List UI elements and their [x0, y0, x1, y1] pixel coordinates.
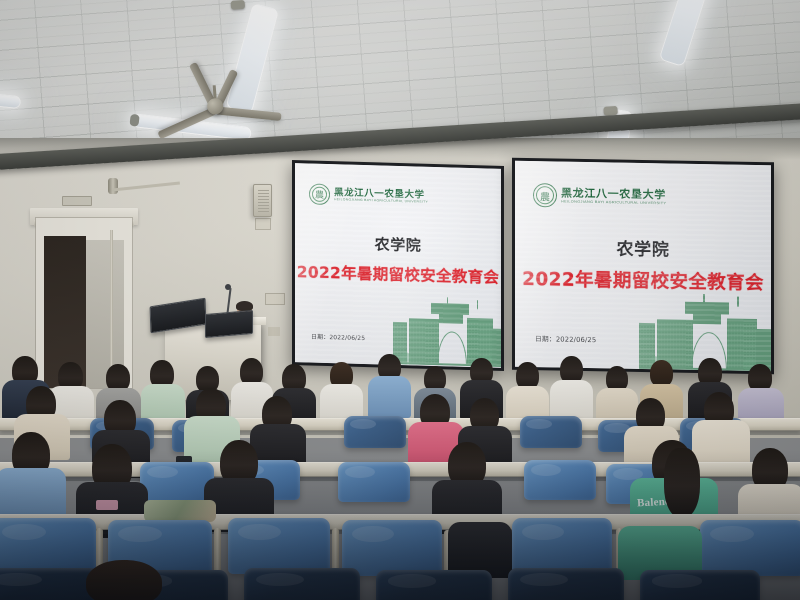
audience-member: [368, 376, 411, 418]
lecture-seat[interactable]: [700, 520, 800, 576]
audience-member: [692, 420, 750, 468]
lecture-seat[interactable]: [0, 518, 96, 574]
audience-member: [596, 388, 638, 422]
lecture-seat[interactable]: [244, 568, 360, 600]
university-logo: 黑龙江八一农垦大学 HEILONGJIANG BAYI AGRICULTURAL…: [309, 184, 428, 208]
slide-date: 日期：2022/06/25: [535, 333, 596, 344]
bag-on-desk: [144, 500, 216, 522]
lecture-seat[interactable]: [140, 462, 214, 502]
lecture-seat[interactable]: [228, 518, 330, 574]
left-projection-screen[interactable]: 黑龙江八一农垦大学 HEILONGJIANG BAYI AGRICULTURAL…: [292, 160, 504, 371]
university-name-en: HEILONGJIANG BAYI AGRICULTURAL UNIVERSIT…: [561, 200, 666, 205]
audience-member-foreground: [86, 560, 162, 600]
slide-title: 2022年暑期留校安全教育会: [515, 265, 771, 295]
lecture-seat[interactable]: [640, 570, 760, 600]
slide-college: 农学院: [515, 233, 771, 262]
wall-placard: [255, 218, 271, 230]
lecture-seat[interactable]: [512, 518, 612, 574]
slide-content-left: 黑龙江八一农垦大学 HEILONGJIANG BAYI AGRICULTURAL…: [295, 163, 501, 368]
lecture-seat[interactable]: [524, 460, 596, 500]
door-sign: [62, 196, 92, 206]
microphone-icon: [225, 284, 231, 290]
phone-on-desk: [96, 500, 118, 510]
lecture-seat[interactable]: [338, 462, 410, 502]
wall-pipe: [108, 178, 118, 194]
slide-date: 日期：2022/06/25: [311, 332, 365, 343]
right-projection-screen[interactable]: 黑龙江八一农垦大学 HEILONGJIANG BAYI AGRICULTURAL…: [512, 158, 774, 375]
lecture-seat[interactable]: [344, 416, 406, 448]
slide-college: 农学院: [295, 231, 501, 258]
university-name-en: HEILONGJIANG BAYI AGRICULTURAL UNIVERSIT…: [334, 198, 428, 204]
wall-panel: [265, 293, 285, 305]
audience-member-hair: [664, 448, 700, 518]
audience-area: Balenciaga: [0, 352, 800, 600]
podium-monitor[interactable]: [205, 310, 253, 338]
lecture-seat[interactable]: [508, 568, 624, 600]
audience-member: [650, 360, 673, 387]
university-seal-icon: [533, 183, 557, 207]
university-logo: 黑龙江八一农垦大学 HEILONGJIANG BAYI AGRICULTURAL…: [533, 183, 666, 209]
audience-member: [141, 384, 185, 422]
lecture-seat[interactable]: [376, 570, 492, 600]
lecture-seat[interactable]: [520, 416, 582, 448]
slide-title: 2022年暑期留校安全教育会: [295, 260, 501, 288]
audience-member: [550, 380, 593, 420]
light-mount: [231, 0, 246, 10]
slide-content-right: 黑龙江八一农垦大学 HEILONGJIANG BAYI AGRICULTURAL…: [515, 161, 771, 371]
university-seal-icon: [309, 184, 330, 206]
lecture-seat[interactable]: [0, 568, 100, 600]
wall-speaker-icon: [253, 184, 272, 217]
lecture-hall-photo: 黑龙江八一农垦大学 HEILONGJIANG BAYI AGRICULTURAL…: [0, 0, 800, 600]
wall-outlet: [268, 327, 280, 336]
